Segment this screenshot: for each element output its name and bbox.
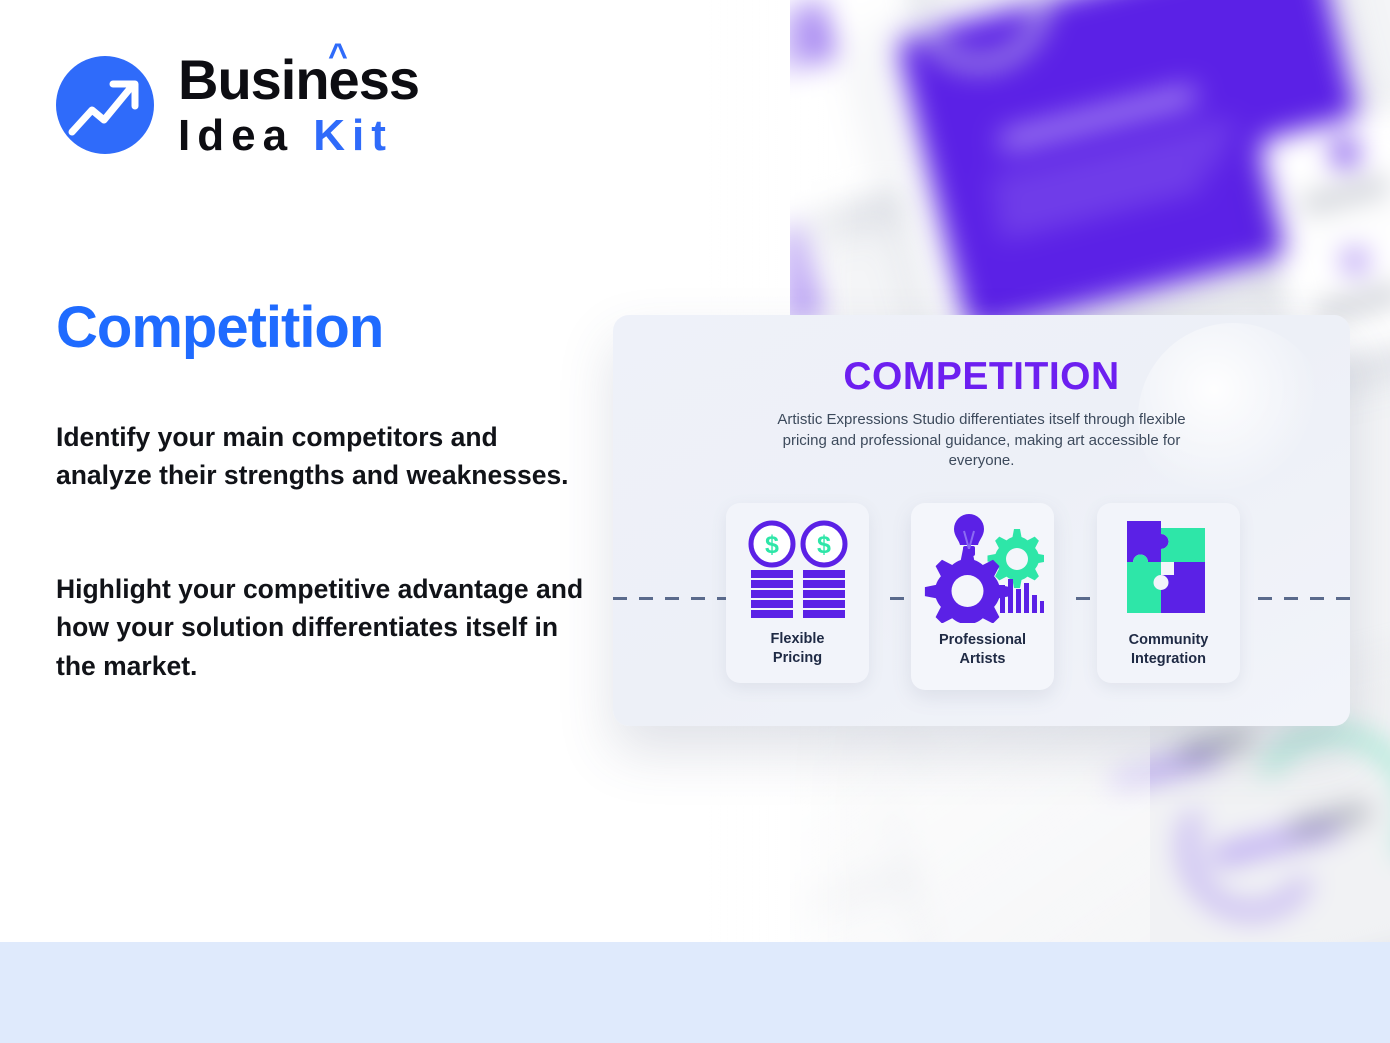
gears-lightbulb-chart-icon — [922, 511, 1044, 623]
feature-tile-label: Flexible Pricing — [771, 630, 825, 668]
growth-chart-arrow-icon — [56, 56, 154, 154]
brand-logo: Business ^ Idea Kit — [56, 52, 419, 158]
brand-line-2-accent: Kit — [313, 111, 393, 160]
coin-stacks-icon: $ $ — [744, 520, 852, 618]
brand-line-2: Idea Kit — [178, 114, 419, 158]
feature-tile-label-line2: Pricing — [771, 649, 825, 668]
connector-dash-right — [1258, 597, 1350, 600]
svg-text:$: $ — [765, 531, 779, 559]
feature-tile-label: Professional Artists — [939, 631, 1026, 669]
feature-tile-flexible-pricing[interactable]: $ $ F — [726, 503, 869, 683]
competition-card-title: COMPETITION — [613, 355, 1350, 399]
feature-tile-label: Community Integration — [1129, 631, 1209, 669]
brand-caret-accent-icon: ^ — [328, 39, 347, 73]
competition-card-subtitle: Artistic Expressions Studio differentiat… — [772, 410, 1192, 472]
feature-tile-label-line2: Integration — [1129, 650, 1209, 669]
feature-tile-label-line1: Flexible — [771, 630, 825, 649]
brand-line-1-text: Business — [178, 48, 419, 111]
slide-stage: Business ^ Idea Kit Competition Identify… — [0, 0, 1390, 1043]
feature-tile-label-line1: Community — [1129, 631, 1209, 650]
feature-tile-label-line2: Artists — [939, 650, 1026, 669]
puzzle-pieces-icon — [1123, 517, 1215, 617]
bottom-accent-band — [0, 942, 1390, 1043]
feature-tile-professional-artists[interactable]: Professional Artists — [911, 503, 1054, 690]
competition-slide-card: COMPETITION Artistic Expressions Studio … — [613, 315, 1350, 726]
feature-tile-label-line1: Professional — [939, 631, 1026, 650]
page-title: Competition — [56, 294, 383, 361]
brand-logo-text: Business ^ Idea Kit — [178, 52, 419, 158]
left-paragraph-2: Highlight your competitive advantage and… — [56, 570, 586, 685]
left-paragraph-1: Identify your main competitors and analy… — [56, 418, 586, 495]
brand-line-1: Business ^ — [178, 52, 419, 108]
feature-tile-community-integration[interactable]: Community Integration — [1097, 503, 1240, 683]
svg-text:$: $ — [817, 531, 831, 559]
connector-dash-left — [613, 597, 743, 600]
brand-line-2-dark: Idea — [178, 111, 294, 160]
